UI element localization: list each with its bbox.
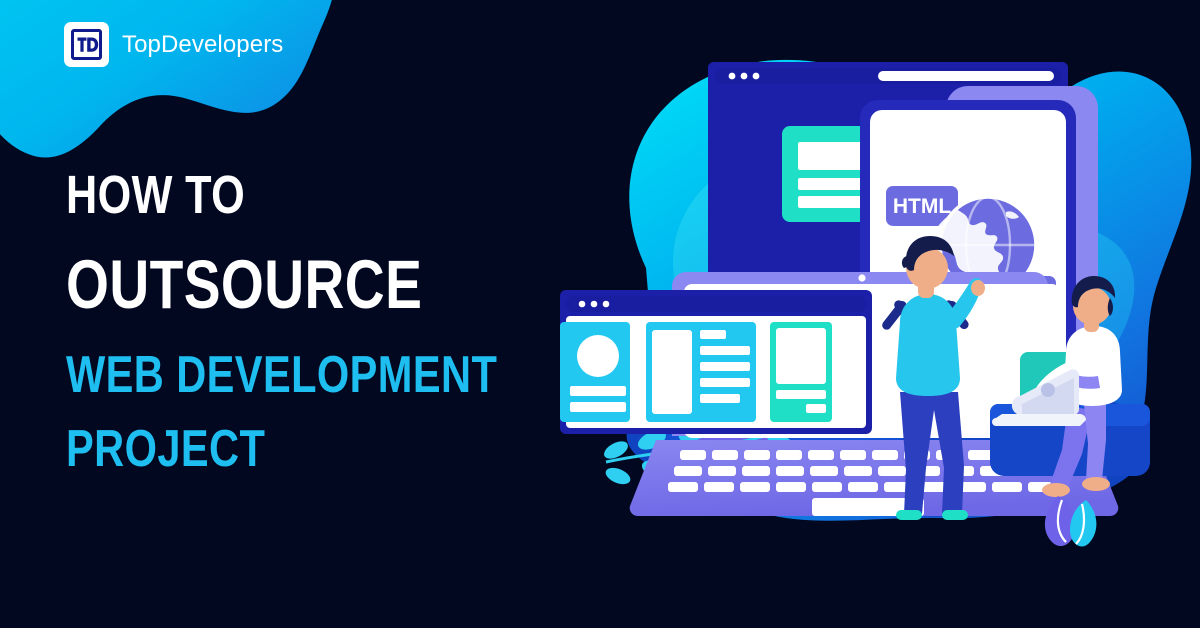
- headline-main: OUTSOURCE: [66, 250, 497, 319]
- headline-accent-line-2: PROJECT: [66, 423, 497, 475]
- headline-accent-line-1: WEB DEVELOPMENT: [66, 349, 497, 401]
- web-development-illustration: HTML { } CSS: [560, 0, 1200, 628]
- td-monogram-icon: [64, 22, 109, 67]
- browser-dots-top: [729, 73, 760, 80]
- laptop-browser-window: [560, 290, 872, 434]
- banner-canvas: TopDevelopers HOW TO OUTSOURCE WEB DEVEL…: [0, 0, 1200, 628]
- brand-logo-lockup[interactable]: TopDevelopers: [64, 22, 283, 67]
- page-title: HOW TO OUTSOURCE WEB DEVELOPMENT PROJECT: [66, 168, 605, 475]
- tag-html-label: HTML: [893, 195, 951, 218]
- brand-wordmark: TopDevelopers: [122, 31, 283, 59]
- headline-eyebrow: HOW TO: [66, 168, 497, 222]
